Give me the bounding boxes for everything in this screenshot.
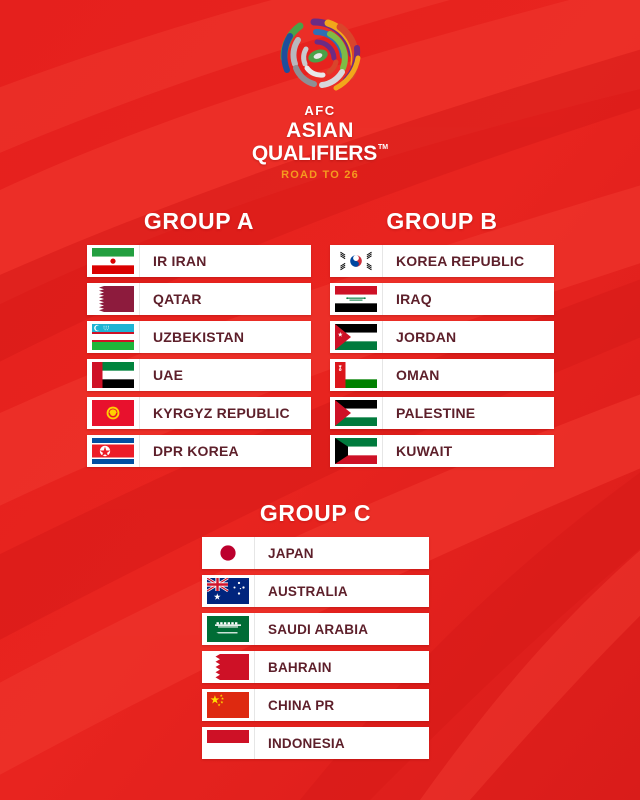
team-flag-cell (330, 245, 383, 277)
flag-iraq-icon (335, 286, 377, 312)
team-flag-cell (330, 283, 383, 315)
team-flag-cell (87, 321, 140, 353)
team-name: QATAR (140, 283, 311, 315)
team-name: JAPAN (255, 537, 429, 569)
team-name: KUWAIT (383, 435, 554, 467)
team-row[interactable]: SAUDI ARABIA (202, 613, 429, 645)
team-name: BAHRAIN (255, 651, 429, 683)
logo-road-to-26-text: ROAD TO 26 (281, 169, 359, 181)
flag-bahrain-icon (207, 654, 249, 680)
team-name: INDONESIA (255, 727, 429, 759)
flag-jordan-icon (335, 324, 377, 350)
team-flag-cell (202, 689, 255, 721)
team-row[interactable]: AUSTRALIA (202, 575, 429, 607)
team-name: IRAQ (383, 283, 554, 315)
team-name: KYRGYZ REPUBLIC (140, 397, 311, 429)
team-flag-cell (202, 613, 255, 645)
team-flag-cell (87, 245, 140, 277)
team-flag-cell (330, 359, 383, 391)
team-name: IR IRAN (140, 245, 311, 277)
team-flag-cell (330, 397, 383, 429)
team-flag-cell (330, 321, 383, 353)
team-name: AUSTRALIA (255, 575, 429, 607)
logo-qualifiers-text: QUALIFIERS (252, 143, 377, 164)
team-row[interactable]: QATAR (87, 283, 311, 315)
flag-qatar-icon (92, 286, 134, 312)
flag-dpr-korea-icon (92, 438, 134, 464)
flag-uzbekistan-icon (92, 324, 134, 350)
team-row[interactable]: CHINA PR (202, 689, 429, 721)
team-row[interactable]: JORDAN (330, 321, 554, 353)
group-b-title: GROUP B (330, 208, 554, 235)
flag-australia-icon (207, 578, 249, 604)
afc-swirl-logo-icon (268, 18, 372, 102)
flag-korea-republic-icon (335, 248, 377, 274)
team-name: JORDAN (383, 321, 554, 353)
flag-oman-icon (335, 362, 377, 388)
team-row[interactable]: DPR KOREA (87, 435, 311, 467)
group-c-title: GROUP C (202, 500, 429, 527)
flag-china-icon (207, 692, 249, 718)
team-row[interactable]: BAHRAIN (202, 651, 429, 683)
team-name: SAUDI ARABIA (255, 613, 429, 645)
team-flag-cell (202, 727, 255, 759)
team-row[interactable]: PALESTINE (330, 397, 554, 429)
logo-afc-text: AFC (304, 104, 335, 117)
poster-root: AFC ASIAN QUALIFIERS TM ROAD TO 26 GROUP… (0, 0, 640, 800)
logo-asian-text: ASIAN (286, 120, 354, 141)
team-row[interactable]: KYRGYZ REPUBLIC (87, 397, 311, 429)
team-name: PALESTINE (383, 397, 554, 429)
team-name: OMAN (383, 359, 554, 391)
team-name: DPR KOREA (140, 435, 311, 467)
team-flag-cell (330, 435, 383, 467)
logo-trademark-symbol: TM (378, 144, 388, 151)
team-flag-cell (87, 397, 140, 429)
team-row[interactable]: UAE (87, 359, 311, 391)
group-a-block: GROUP AIR IRANQATARUZBEKISTANUAEKYRGYZ R… (87, 208, 311, 473)
flag-palestine-icon (335, 400, 377, 426)
team-name: UZBEKISTAN (140, 321, 311, 353)
team-row[interactable]: JAPAN (202, 537, 429, 569)
group-b-block: GROUP BKOREA REPUBLICIRAQJORDANOMANPALES… (330, 208, 554, 473)
team-row[interactable]: KUWAIT (330, 435, 554, 467)
flag-indonesia-icon (207, 730, 249, 756)
flag-saudi-arabia-icon (207, 616, 249, 642)
flag-uae-icon (92, 362, 134, 388)
afc-asian-qualifiers-logo: AFC ASIAN QUALIFIERS TM ROAD TO 26 (0, 18, 640, 181)
team-name: CHINA PR (255, 689, 429, 721)
team-flag-cell (87, 359, 140, 391)
group-c-block: GROUP CJAPANAUSTRALIASAUDI ARABIABAHRAIN… (202, 500, 429, 765)
team-flag-cell (202, 537, 255, 569)
flag-kyrgyzstan-icon (92, 400, 134, 426)
team-row[interactable]: OMAN (330, 359, 554, 391)
team-flag-cell (87, 435, 140, 467)
flag-kuwait-icon (335, 438, 377, 464)
team-row[interactable]: INDONESIA (202, 727, 429, 759)
flag-iran-icon (92, 248, 134, 274)
group-a-title: GROUP A (87, 208, 311, 235)
logo-qualifiers-row: QUALIFIERS TM (252, 143, 388, 164)
team-flag-cell (202, 575, 255, 607)
team-row[interactable]: IR IRAN (87, 245, 311, 277)
team-flag-cell (87, 283, 140, 315)
team-flag-cell (202, 651, 255, 683)
team-row[interactable]: IRAQ (330, 283, 554, 315)
team-row[interactable]: UZBEKISTAN (87, 321, 311, 353)
team-name: UAE (140, 359, 311, 391)
team-name: KOREA REPUBLIC (383, 245, 554, 277)
flag-japan-icon (207, 540, 249, 566)
team-row[interactable]: KOREA REPUBLIC (330, 245, 554, 277)
